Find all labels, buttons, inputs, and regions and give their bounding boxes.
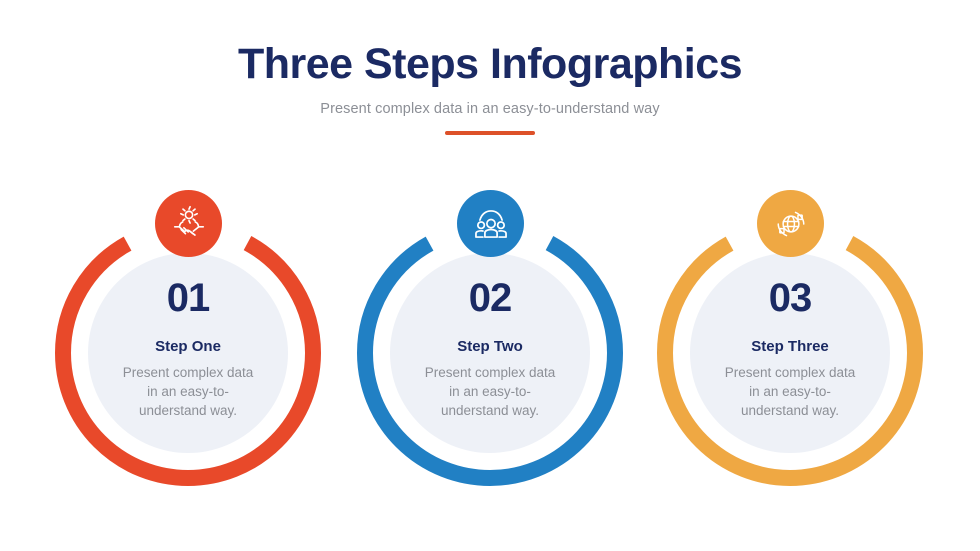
step-description-line: in an easy-to- bbox=[380, 382, 600, 401]
step-description: Present complex data in an easy-to- unde… bbox=[380, 363, 600, 420]
step-icon-badge-2[interactable] bbox=[457, 190, 524, 257]
step-description-line: understand way. bbox=[78, 401, 298, 420]
step-description-line: in an easy-to- bbox=[680, 382, 900, 401]
header: Three Steps Infographics Present complex… bbox=[0, 0, 980, 135]
infographic-slide: Three Steps Infographics Present complex… bbox=[0, 0, 980, 551]
step-description-line: understand way. bbox=[380, 401, 600, 420]
step-description-line: Present complex data bbox=[680, 363, 900, 382]
step-card-2[interactable]: 02 Step Two Present complex data in an e… bbox=[340, 190, 640, 500]
step-icon-badge-3[interactable] bbox=[757, 190, 824, 257]
steps-row: 01 Step One Present complex data in an e… bbox=[0, 190, 980, 500]
step-description-line: understand way. bbox=[680, 401, 900, 420]
handshake-gear-icon bbox=[170, 205, 208, 243]
step-content-1: 01 Step One Present complex data in an e… bbox=[78, 278, 298, 420]
step-description-line: in an easy-to- bbox=[78, 382, 298, 401]
step-title: Step One bbox=[78, 338, 298, 355]
step-icon-badge-1[interactable] bbox=[155, 190, 222, 257]
page-title: Three Steps Infographics bbox=[0, 42, 980, 87]
team-people-icon bbox=[472, 205, 510, 243]
step-number: 01 bbox=[78, 278, 298, 318]
step-card-3[interactable]: 03 Step Three Present complex data in an… bbox=[640, 190, 940, 500]
step-card-1[interactable]: 01 Step One Present complex data in an e… bbox=[38, 190, 338, 500]
accent-divider bbox=[445, 131, 535, 135]
step-description-line: Present complex data bbox=[78, 363, 298, 382]
step-content-3: 03 Step Three Present complex data in an… bbox=[680, 278, 900, 420]
step-content-2: 02 Step Two Present complex data in an e… bbox=[380, 278, 600, 420]
step-title: Step Two bbox=[380, 338, 600, 355]
globe-network-icon bbox=[773, 206, 809, 242]
step-number: 03 bbox=[680, 278, 900, 318]
step-description: Present complex data in an easy-to- unde… bbox=[78, 363, 298, 420]
page-subtitle: Present complex data in an easy-to-under… bbox=[0, 101, 980, 117]
step-title: Step Three bbox=[680, 338, 900, 355]
step-number: 02 bbox=[380, 278, 600, 318]
step-description: Present complex data in an easy-to- unde… bbox=[680, 363, 900, 420]
step-description-line: Present complex data bbox=[380, 363, 600, 382]
